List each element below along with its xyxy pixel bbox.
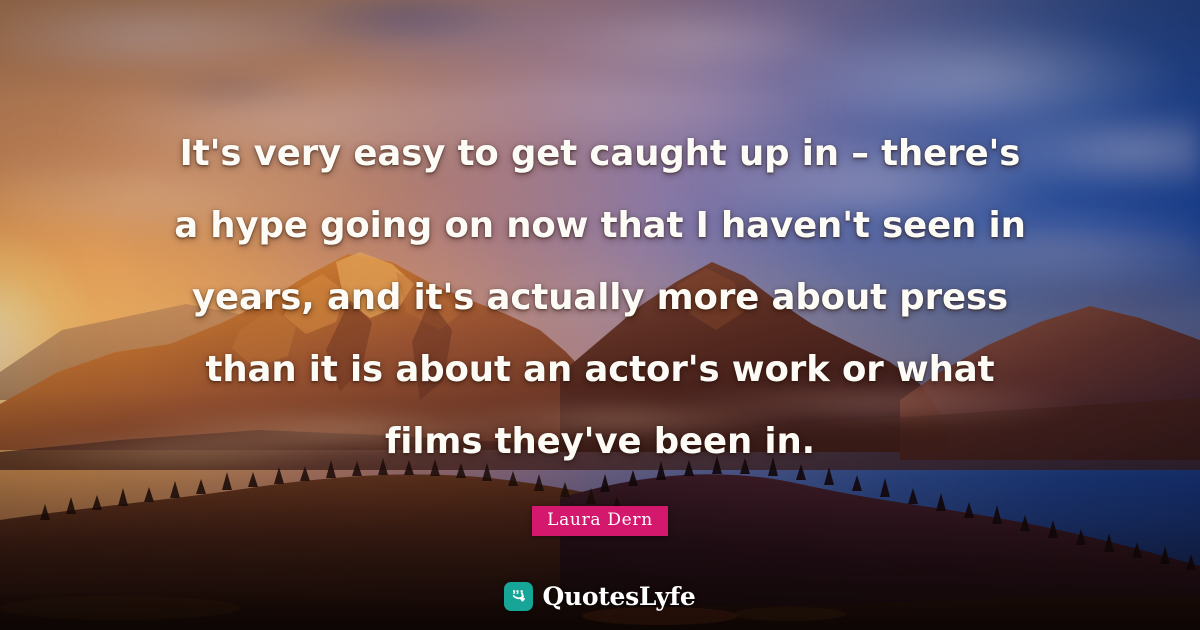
poster-content: It's very easy to get caught up in – the… xyxy=(0,0,1200,630)
quote-text-block: It's very easy to get caught up in – the… xyxy=(60,118,1140,478)
quote-line-2: a hype going on now that I haven't seen … xyxy=(60,190,1140,262)
quote-line-4: than it is about an actor's work or what xyxy=(60,334,1140,406)
quote-line-5: films they've been in. xyxy=(60,406,1140,478)
site-branding[interactable]: QuotesLyfe xyxy=(504,582,695,611)
quote-line-3: years, and it's actually more about pres… xyxy=(60,262,1140,334)
quote-poster: It's very easy to get caught up in – the… xyxy=(0,0,1200,630)
site-name-text: QuotesLyfe xyxy=(542,582,695,611)
quote-smiley-icon xyxy=(504,582,533,611)
author-attribution: Laura Dern xyxy=(532,506,668,536)
author-name-badge[interactable]: Laura Dern xyxy=(532,506,668,536)
quote-line-1: It's very easy to get caught up in – the… xyxy=(60,118,1140,190)
